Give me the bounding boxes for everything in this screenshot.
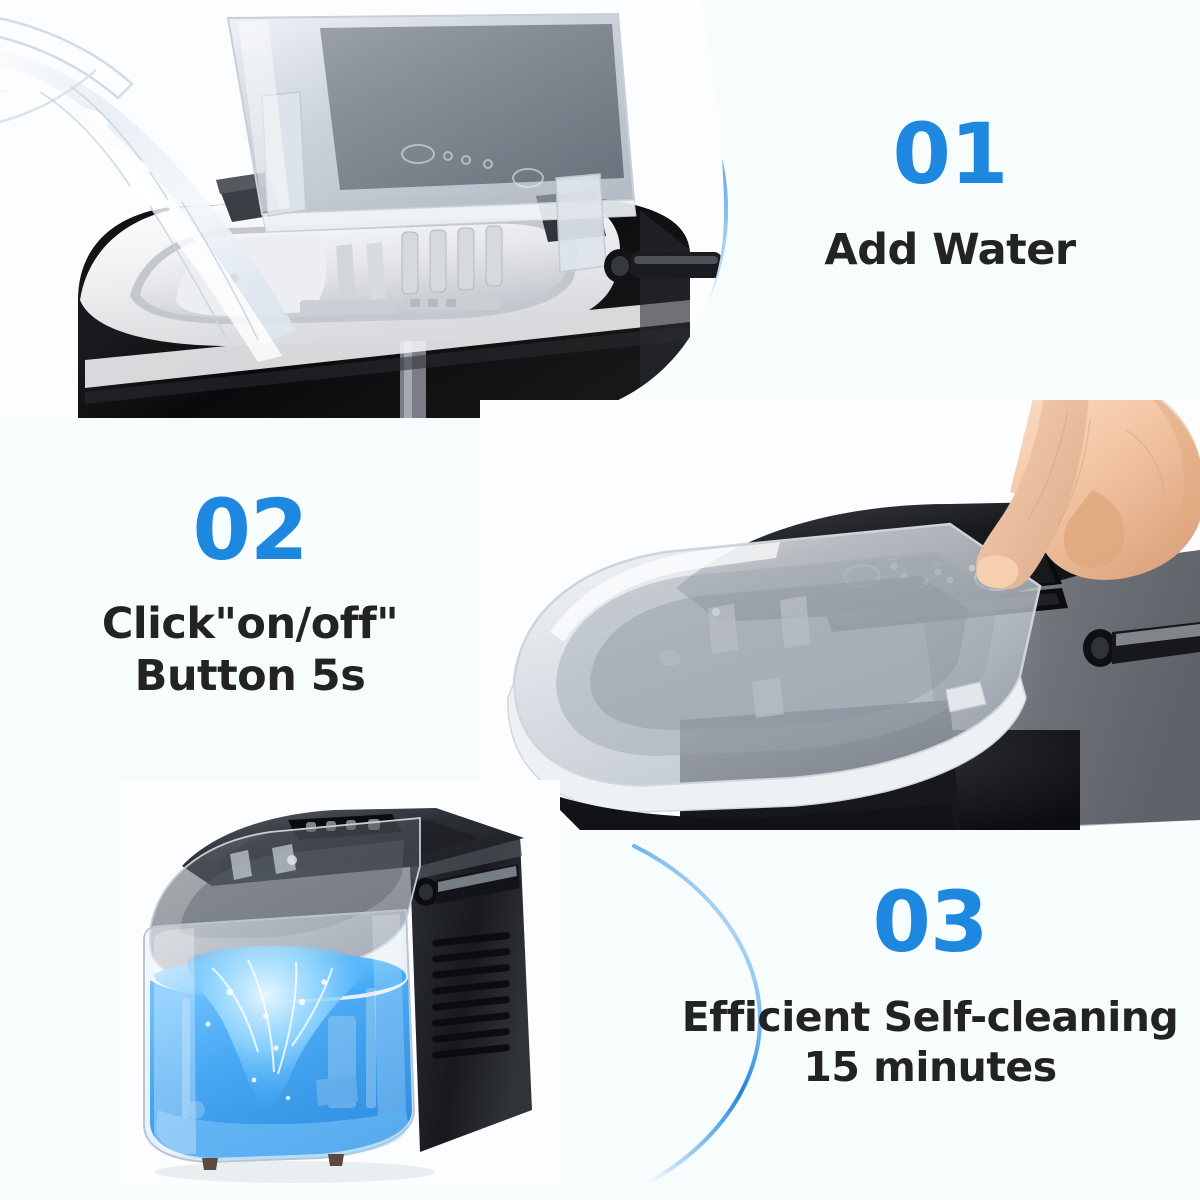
step-03-title-line-2: 15 minutes bbox=[660, 1042, 1200, 1092]
step-02-title-line-2: Button 5s bbox=[40, 650, 460, 702]
step-01-image bbox=[0, 0, 740, 420]
step-01-number: 01 bbox=[760, 112, 1140, 196]
step-02-image bbox=[480, 400, 1200, 830]
step-02-title-line-1: Click"on/off" bbox=[40, 598, 460, 650]
infographic-canvas: 01 Add Water bbox=[0, 0, 1200, 1200]
step-01-text: 01 Add Water bbox=[760, 112, 1140, 276]
step-03-image bbox=[120, 780, 560, 1190]
step-03-title-line-1: Efficient Self-cleaning bbox=[660, 992, 1200, 1042]
step-02-number: 02 bbox=[40, 488, 460, 572]
step-01-title: Add Water bbox=[760, 224, 1140, 276]
step-02-text: 02 Click"on/off" Button 5s bbox=[40, 488, 460, 703]
step-03-number: 03 bbox=[660, 880, 1200, 964]
step-03-text: 03 Efficient Self-cleaning 15 minutes bbox=[660, 880, 1200, 1092]
